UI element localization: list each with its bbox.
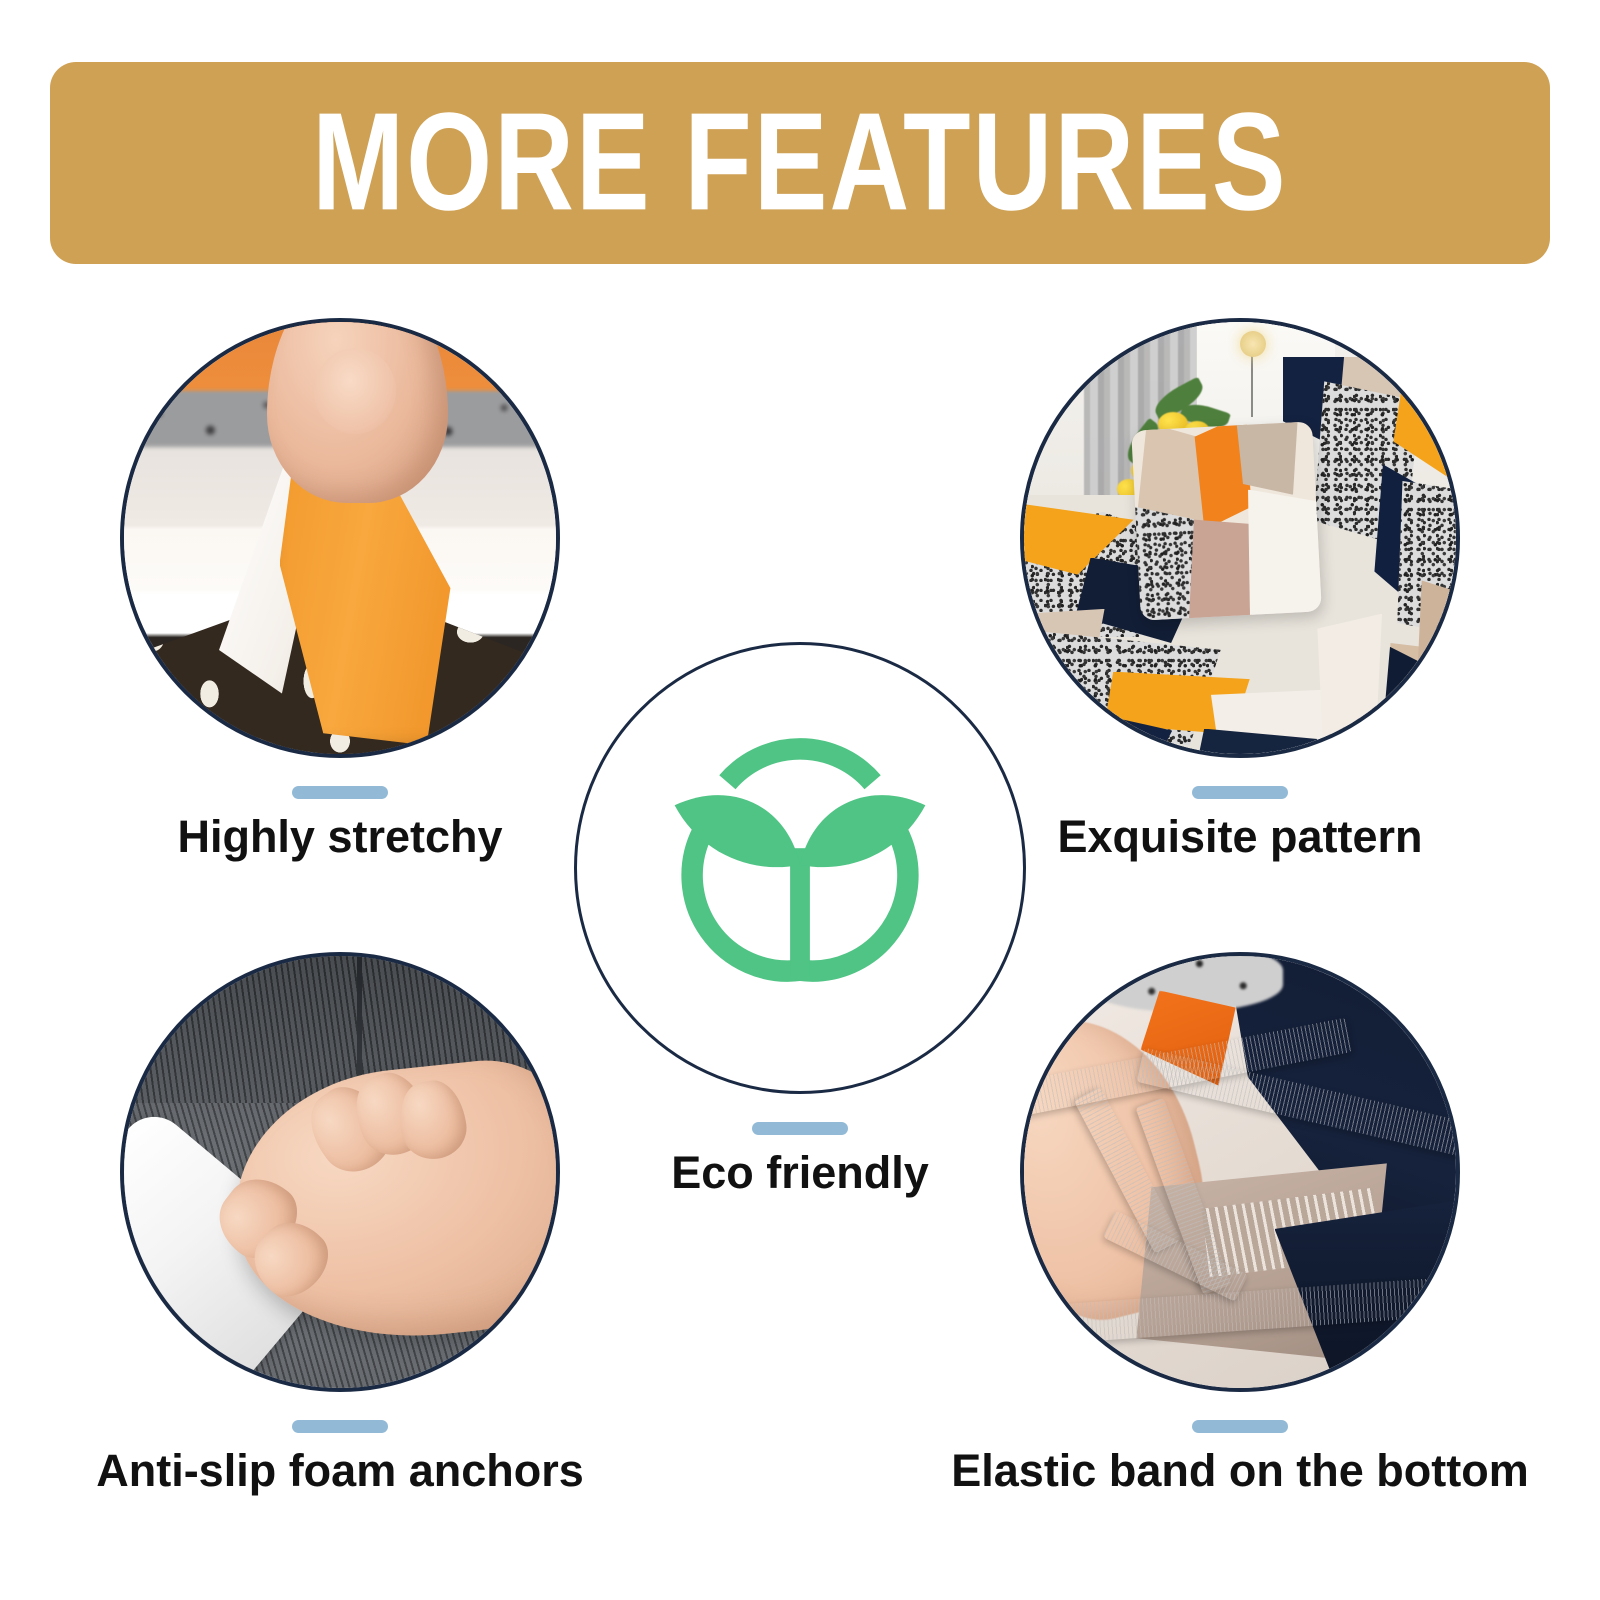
photo-exquisite-pattern	[1020, 318, 1460, 758]
feature-highly-stretchy: Highly stretchy	[110, 318, 570, 860]
infographic-page: MORE FEATURES Highly stretchy	[0, 0, 1600, 1600]
feature-label-elastic-band-on-the-bottom: Elastic band on the bottom	[951, 1447, 1529, 1494]
photo-anti-slip-foam-anchors	[120, 952, 560, 1392]
page-title: MORE FEATURES	[312, 93, 1287, 232]
divider-bar-exquisite-pattern	[1192, 786, 1288, 799]
feature-anti-slip-foam-anchors: Anti-slip foam anchors	[100, 952, 580, 1494]
header-banner: MORE FEATURES	[50, 62, 1550, 264]
feature-label-eco-friendly: Eco friendly	[671, 1149, 929, 1196]
feature-label-highly-stretchy: Highly stretchy	[177, 813, 502, 860]
divider-bar-anti-slip-foam-anchors	[292, 1420, 388, 1433]
feature-exquisite-pattern: Exquisite pattern	[1010, 318, 1470, 860]
divider-bar-elastic-band-on-the-bottom	[1192, 1420, 1288, 1433]
feature-label-exquisite-pattern: Exquisite pattern	[1057, 813, 1422, 860]
photo-highly-stretchy	[120, 318, 560, 758]
photo-elastic-band-on-the-bottom	[1020, 952, 1460, 1392]
divider-bar-eco-friendly	[752, 1122, 848, 1135]
feature-eco-friendly: Eco friendly	[570, 642, 1030, 1196]
feature-elastic-band-on-the-bottom: Elastic band on the bottom	[1000, 952, 1480, 1494]
eco-sprout-icon	[635, 703, 965, 1033]
divider-bar-highly-stretchy	[292, 786, 388, 799]
eco-friendly-badge	[574, 642, 1026, 1094]
feature-label-anti-slip-foam-anchors: Anti-slip foam anchors	[96, 1447, 584, 1494]
